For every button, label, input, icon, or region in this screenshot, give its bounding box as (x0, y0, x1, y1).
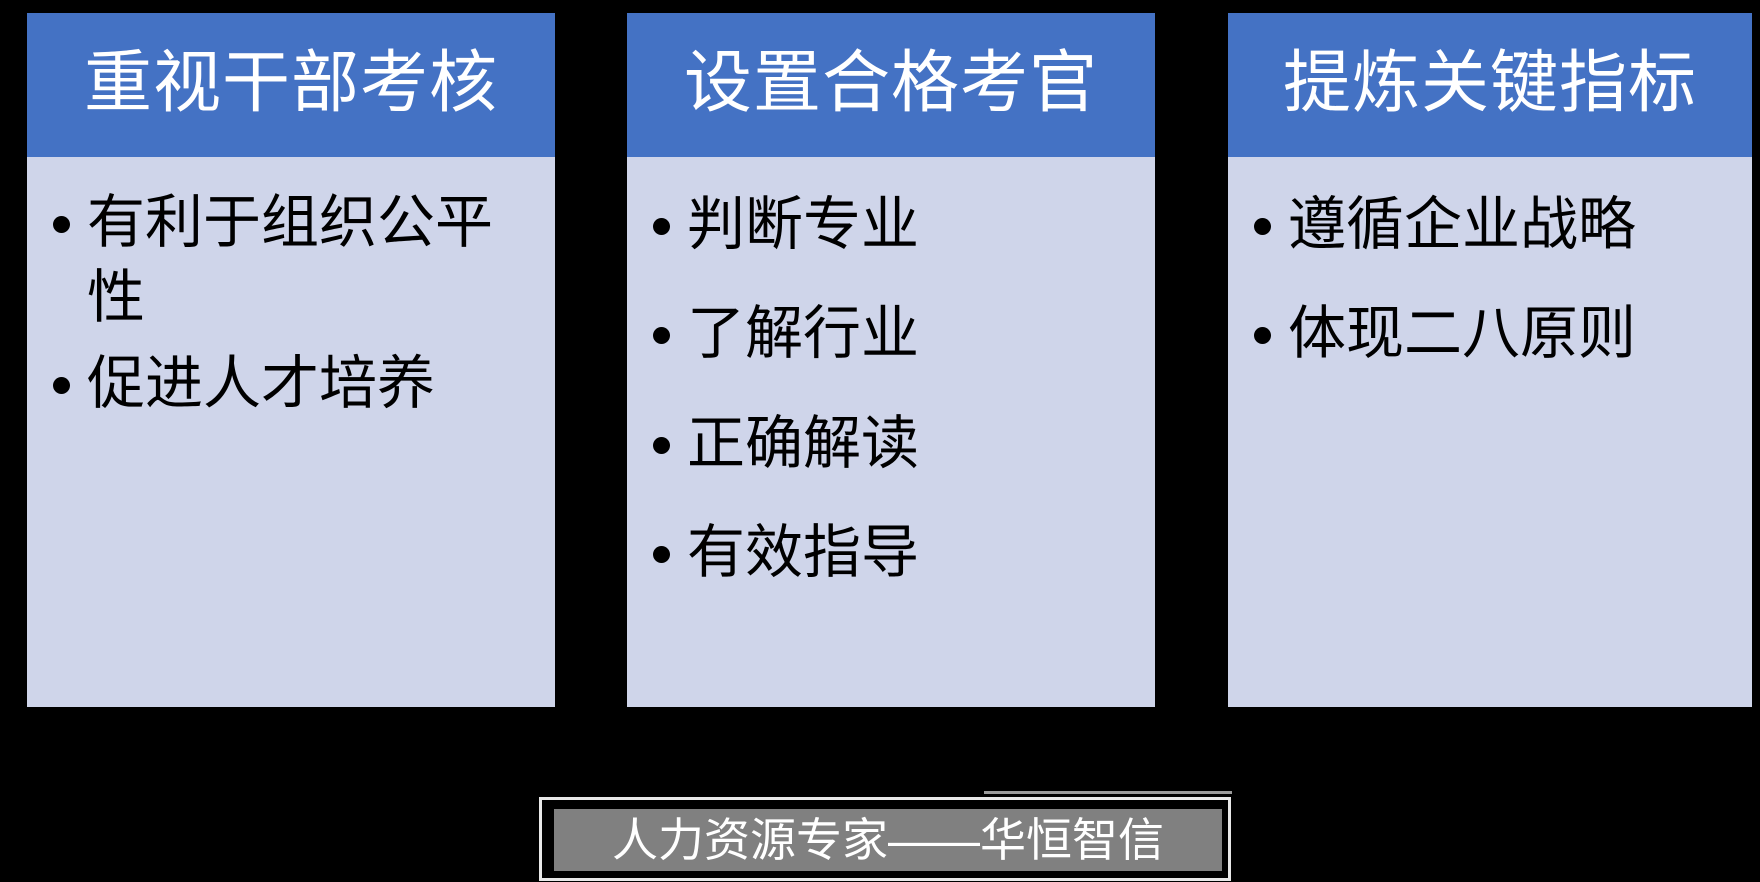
card-3-title: 提炼关键指标 (1228, 13, 1752, 157)
card-1-body: 有利于组织公平性 促进人才培养 (27, 157, 555, 707)
content-card-2: 设置合格考官 判断专业 了解行业 正确解读 有效指导 (627, 13, 1155, 707)
list-item: 促进人才培养 (41, 346, 541, 421)
watermark-plate: 人力资源专家——华恒智信 (554, 809, 1222, 871)
slide-canvas: 重视干部考核 有利于组织公平性 促进人才培养 设置合格考官 判断专业 了解行业 … (0, 0, 1760, 882)
list-item: 体现二八原则 (1242, 296, 1738, 371)
card-3-body: 遵循企业战略 体现二八原则 (1228, 157, 1752, 707)
list-item: 判断专业 (641, 187, 1141, 262)
card-1-title: 重视干部考核 (27, 13, 555, 157)
list-item: 有效指导 (641, 515, 1141, 590)
watermark-label: 人力资源专家——华恒智信 (612, 817, 1164, 863)
list-item: 正确解读 (641, 406, 1141, 481)
card-1-bullet-list: 有利于组织公平性 促进人才培养 (41, 185, 541, 421)
card-2-title: 设置合格考官 (627, 13, 1155, 157)
card-3-bullet-list: 遵循企业战略 体现二八原则 (1242, 187, 1738, 372)
content-card-3: 提炼关键指标 遵循企业战略 体现二八原则 (1228, 13, 1752, 707)
list-item: 遵循企业战略 (1242, 187, 1738, 262)
card-2-bullet-list: 判断专业 了解行业 正确解读 有效指导 (641, 187, 1141, 591)
watermark-badge: 人力资源专家——华恒智信 (539, 773, 1235, 882)
content-card-1: 重视干部考核 有利于组织公平性 促进人才培养 (27, 13, 555, 707)
card-2-body: 判断专业 了解行业 正确解读 有效指导 (627, 157, 1155, 707)
watermark-accent-line (984, 791, 1232, 794)
list-item: 了解行业 (641, 296, 1141, 371)
list-item: 有利于组织公平性 (41, 185, 541, 336)
